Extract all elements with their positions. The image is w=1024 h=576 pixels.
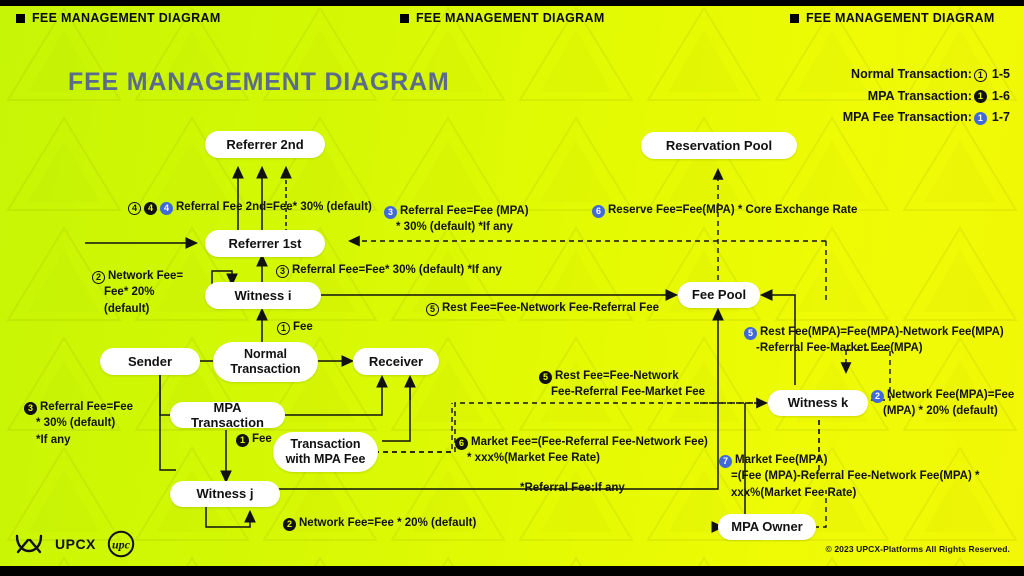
label-rest-fee-mpa-mid: 5Rest Fee=Fee-Network Fee-Referral Fee-M… — [539, 368, 705, 401]
black-square-icon — [790, 14, 799, 23]
svg-text:upc: upc — [112, 538, 131, 552]
label-rest-fee-mpa-mid-l2: Fee-Referral Fee-Market Fee — [539, 384, 705, 400]
badge-mpafee-7: 7 — [719, 455, 732, 468]
badge-mpafee-2: 2 — [871, 390, 884, 403]
node-mpa-transaction[interactable]: MPA Transaction — [170, 402, 285, 428]
label-referral-fee-mpa-left: 3Referral Fee=Fee * 30% (default) *If an… — [24, 399, 133, 448]
node-referrer-2nd[interactable]: Referrer 2nd — [205, 131, 325, 158]
header-label-left-text: FEE MANAGEMENT DIAGRAM — [32, 11, 221, 25]
header-label-right: FEE MANAGEMENT DIAGRAM — [790, 11, 995, 25]
legend-row-normal: Normal Transaction: 1 1-5 — [843, 64, 1010, 86]
label-fee-normal: 1Fee — [277, 319, 313, 335]
header-label-right-text: FEE MANAGEMENT DIAGRAM — [806, 11, 995, 25]
label-rest-fee-mpa-right: 5Rest Fee(MPA)=Fee(MPA)-Network Fee(MPA)… — [744, 324, 1004, 357]
label-market-fee-mpa-l2: =(Fee (MPA)-Referral Fee-Network Fee(MPA… — [719, 468, 979, 484]
label-referral-fee-mpa-left-l1: Referral Fee=Fee — [40, 401, 133, 413]
label-rest-fee-mpa-right-l2: -Referral Fee-Market Fee(MPA) — [744, 340, 1004, 356]
node-fee-pool[interactable]: Fee Pool — [678, 282, 760, 308]
label-rest-fee-normal-text: Rest Fee=Fee-Network Fee-Referral Fee — [442, 302, 659, 314]
label-referral-fee-witness-i-text: Referral Fee=Fee* 30% (default) *If any — [292, 264, 502, 276]
label-network-fee-left-l2: Fee* 20% — [92, 284, 183, 300]
footer-branding: UPCX upc — [14, 530, 135, 558]
node-sender[interactable]: Sender — [100, 348, 200, 375]
label-network-fee-left-l1: Network Fee= — [108, 270, 183, 282]
label-reserve-fee-text: Reserve Fee=Fee(MPA) * Core Exchange Rat… — [608, 204, 857, 216]
fee-management-diagram-page: FEE MANAGEMENT DIAGRAM FEE MANAGEMENT DI… — [0, 0, 1024, 576]
label-network-fee-mpa-l2: (MPA) * 20% (default) — [871, 403, 1014, 419]
legend-label-mpa: MPA Transaction: — [868, 86, 972, 108]
bottom-bar — [0, 566, 1024, 576]
node-witness-k[interactable]: Witness k — [768, 390, 868, 416]
legend-label-mpa-fee: MPA Fee Transaction: — [843, 107, 972, 129]
legend: Normal Transaction: 1 1-5 MPA Transactio… — [843, 64, 1010, 129]
label-network-fee-left: 2Network Fee= Fee* 20% (default) — [92, 268, 183, 317]
badge-mpa-6: 6 — [455, 437, 468, 450]
label-referral-fee-2nd: 444Referral Fee 2nd=Fee* 30% (default) — [128, 199, 372, 215]
legend-label-normal: Normal Transaction: — [851, 64, 972, 86]
label-network-fee-bottom: 2Network Fee=Fee * 20% (default) — [283, 515, 476, 531]
node-normal-transaction[interactable]: Normal Transaction — [213, 342, 318, 382]
label-market-fee: 6Market Fee=(Fee-Referral Fee-Network Fe… — [455, 434, 708, 467]
label-referral-fee-note-text: *Referral Fee:If any — [520, 480, 625, 496]
label-network-fee-left-l3: (default) — [92, 301, 183, 317]
header-label-center-text: FEE MANAGEMENT DIAGRAM — [416, 11, 605, 25]
header-strip: FEE MANAGEMENT DIAGRAM FEE MANAGEMENT DI… — [0, 6, 1024, 30]
badge-mpafee-3: 3 — [384, 206, 397, 219]
legend-row-mpa: MPA Transaction: 1 1-6 — [843, 86, 1010, 108]
label-referral-fee-mpa-l1: Referral Fee=Fee (MPA) — [400, 205, 529, 217]
copyright-text: © 2023 UPCX-Platforms All Rights Reserve… — [826, 544, 1010, 554]
legend-range-mpa: 1-6 — [992, 86, 1010, 108]
label-market-fee-l2: * xxx%(Market Fee Rate) — [455, 450, 708, 466]
label-referral-fee-mpa-left-l2: * 30% (default) — [24, 415, 133, 431]
upcx-logo-icon — [14, 531, 44, 557]
label-referral-fee-note: *Referral Fee:If any — [520, 480, 625, 496]
badge-normal-2: 2 — [92, 271, 105, 284]
badge-normal-1: 1 — [277, 322, 290, 335]
label-rest-fee-mpa-mid-l1: Rest Fee=Fee-Network — [555, 370, 679, 382]
label-market-fee-mpa-l1: Market Fee(MPA) — [735, 454, 827, 466]
label-network-fee-mpa-l1: Network Fee(MPA)=Fee — [887, 389, 1014, 401]
node-mpa-owner[interactable]: MPA Owner — [718, 514, 816, 540]
node-receiver[interactable]: Receiver — [353, 348, 439, 375]
badge-mpa-1: 1 — [236, 434, 249, 447]
legend-range-mpa-fee: 1-7 — [992, 107, 1010, 129]
legend-badge-normal: 1 — [974, 69, 987, 82]
label-rest-fee-normal: 5Rest Fee=Fee-Network Fee-Referral Fee — [426, 300, 659, 316]
badge-normal-3: 3 — [276, 265, 289, 278]
badge-mpafee-4: 4 — [160, 202, 173, 215]
label-reserve-fee: 6Reserve Fee=Fee(MPA) * Core Exchange Ra… — [592, 202, 857, 218]
badge-mpa-5: 5 — [539, 371, 552, 384]
legend-badge-mpa-fee: 1 — [974, 112, 987, 125]
label-market-fee-l1: Market Fee=(Fee-Referral Fee-Network Fee… — [471, 436, 708, 448]
label-referral-fee-witness-i: 3Referral Fee=Fee* 30% (default) *If any — [276, 262, 502, 278]
legend-badge-mpa: 1 — [974, 90, 987, 103]
label-referral-fee-2nd-text: Referral Fee 2nd=Fee* 30% (default) — [176, 201, 372, 213]
black-square-icon — [400, 14, 409, 23]
page-title: FEE MANAGEMENT DIAGRAM — [68, 68, 449, 97]
badge-mpafee-5: 5 — [744, 327, 757, 340]
label-referral-fee-mpa-l2: * 30% (default) *If any — [384, 219, 529, 235]
legend-range-normal: 1-5 — [992, 64, 1010, 86]
node-witness-i[interactable]: Witness i — [205, 282, 321, 309]
label-market-fee-mpa: 7Market Fee(MPA) =(Fee (MPA)-Referral Fe… — [719, 452, 979, 501]
badge-mpa-4: 4 — [144, 202, 157, 215]
label-network-fee-bottom-text: Network Fee=Fee * 20% (default) — [299, 517, 476, 529]
node-transaction-with-mpa-fee[interactable]: Transaction with MPA Fee — [273, 432, 378, 472]
black-square-icon — [16, 14, 25, 23]
node-reservation-pool[interactable]: Reservation Pool — [641, 132, 797, 159]
header-label-center: FEE MANAGEMENT DIAGRAM — [400, 11, 605, 25]
badge-normal-4: 4 — [128, 202, 141, 215]
badge-mpa-3: 3 — [24, 402, 37, 415]
label-referral-fee-mpa: 3Referral Fee=Fee (MPA) * 30% (default) … — [384, 203, 529, 236]
label-rest-fee-mpa-right-l1: Rest Fee(MPA)=Fee(MPA)-Network Fee(MPA) — [760, 326, 1004, 338]
label-fee-normal-text: Fee — [293, 321, 313, 333]
label-network-fee-mpa: 2Network Fee(MPA)=Fee (MPA) * 20% (defau… — [871, 387, 1014, 420]
footer-wordmark: UPCX — [55, 536, 96, 552]
upc-circle-icon: upc — [107, 530, 135, 558]
top-bar — [0, 0, 1024, 6]
label-fee-mpa: 1Fee — [236, 431, 272, 447]
header-label-left: FEE MANAGEMENT DIAGRAM — [16, 11, 221, 25]
label-referral-fee-mpa-left-l3: *If any — [24, 432, 133, 448]
badge-normal-5: 5 — [426, 303, 439, 316]
label-fee-mpa-text: Fee — [252, 433, 272, 445]
node-witness-j[interactable]: Witness j — [170, 481, 280, 507]
legend-row-mpa-fee: MPA Fee Transaction: 1 1-7 — [843, 107, 1010, 129]
badge-mpafee-6: 6 — [592, 205, 605, 218]
label-market-fee-mpa-l3: xxx%(Market Fee Rate) — [719, 485, 979, 501]
badge-mpa-2: 2 — [283, 518, 296, 531]
node-referrer-1st[interactable]: Referrer 1st — [205, 230, 325, 257]
